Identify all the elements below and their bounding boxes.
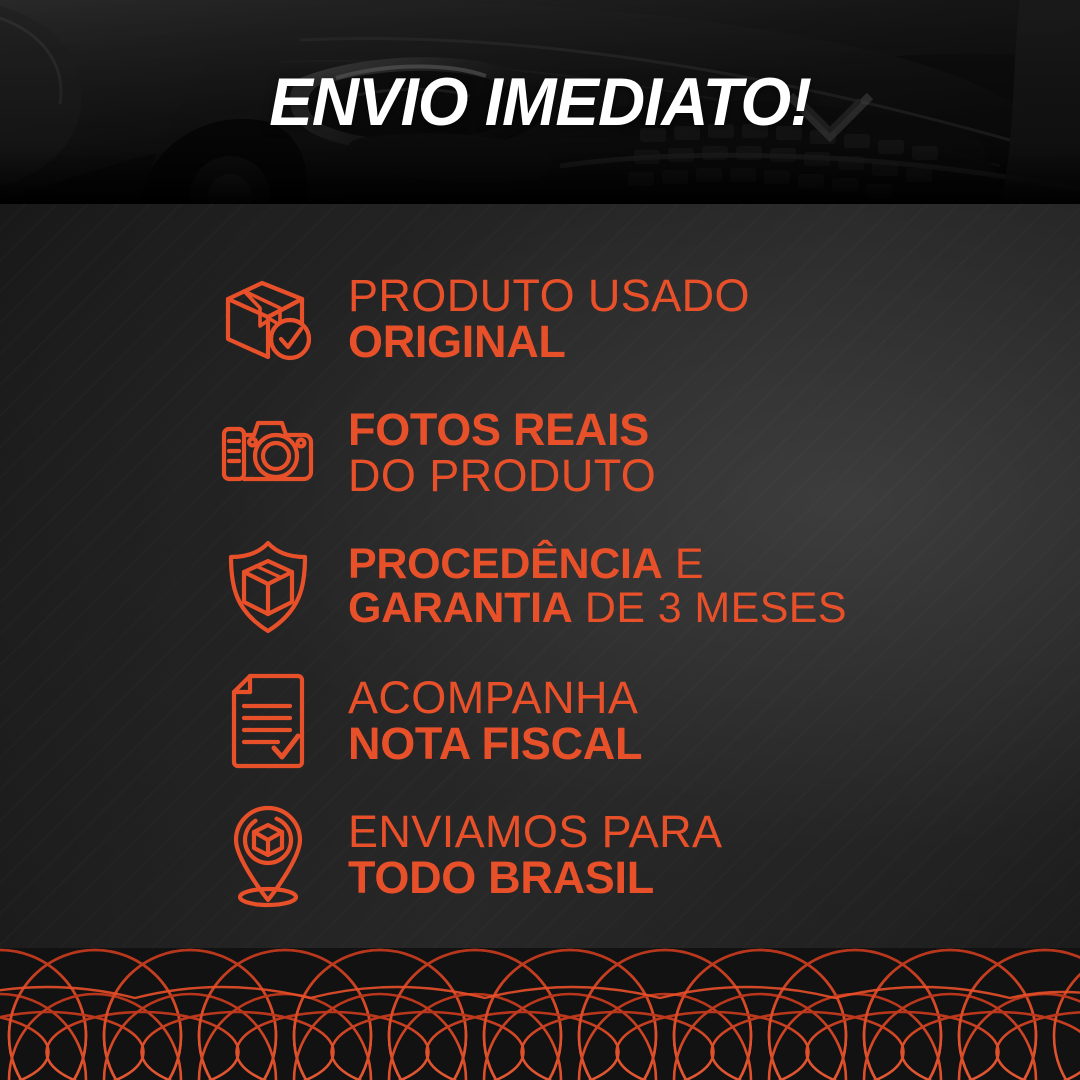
feature-line-2: GARANTIA DE 3 MESES [348, 587, 847, 631]
feature-line1-thin: ACOMPANHA [348, 672, 638, 723]
feature-text: PRODUTO USADO ORIGINAL [348, 273, 750, 365]
feature-line2-thin: DO PRODUTO [348, 450, 656, 501]
feature-line-2: ORIGINAL [348, 319, 750, 365]
feature-text: ACOMPANHA NOTA FISCAL [348, 675, 642, 767]
feature-item-todo-brasil: ENVIAMOS PARA TODO BRASIL [212, 788, 1080, 922]
feature-line-1: PROCEDÊNCIA E [348, 543, 847, 587]
feature-item-produto-usado-original: PRODUTO USADO ORIGINAL [212, 252, 1080, 386]
banner-header: ENVIO IMEDIATO! [0, 0, 1080, 204]
footer-pattern [0, 948, 1080, 1080]
feature-line1-bold: FOTOS REAIS [348, 404, 649, 455]
feature-line2-bold: GARANTIA [348, 584, 573, 632]
feature-line-1: PRODUTO USADO [348, 273, 750, 319]
feature-line2-bold: ORIGINAL [348, 316, 566, 367]
feature-item-procedencia-garantia: PROCEDÊNCIA E GARANTIA DE 3 MESES [212, 520, 1080, 654]
camera-icon [212, 401, 324, 505]
feature-line-2: DO PRODUTO [348, 453, 656, 499]
feature-line-1: FOTOS REAIS [348, 407, 656, 453]
feature-line1-bold: PROCEDÊNCIA [348, 540, 662, 588]
feature-line1-thin: E [662, 540, 703, 588]
header-title-text: ENVIO IMEDIATO! [269, 63, 811, 141]
feature-list: PRODUTO USADO ORIGINAL [212, 252, 1080, 922]
feature-text: FOTOS REAIS DO PRODUTO [348, 407, 656, 499]
promo-banner: ENVIO IMEDIATO! [0, 0, 1080, 1080]
invoice-check-icon [212, 669, 324, 773]
feature-item-fotos-reais: FOTOS REAIS DO PRODUTO [212, 386, 1080, 520]
box-check-icon [212, 267, 324, 371]
banner-body: PRODUTO USADO ORIGINAL [0, 204, 1080, 1080]
feature-item-nota-fiscal: ACOMPANHA NOTA FISCAL [212, 654, 1080, 788]
shield-box-icon [212, 535, 324, 639]
map-pin-box-icon [212, 803, 324, 907]
feature-line1-thin: PRODUTO USADO [348, 270, 750, 321]
feature-text: ENVIAMOS PARA TODO BRASIL [348, 809, 722, 901]
feature-line-1: ACOMPANHA [348, 675, 642, 721]
feature-line2-thin: DE 3 MESES [573, 584, 847, 632]
feature-line2-bold: NOTA FISCAL [348, 718, 642, 769]
feature-line-2: NOTA FISCAL [348, 721, 642, 767]
page-title: ENVIO IMEDIATO! [0, 0, 1080, 204]
feature-line1-thin: ENVIAMOS PARA [348, 806, 722, 857]
feature-line-1: ENVIAMOS PARA [348, 809, 722, 855]
feature-line-2: TODO BRASIL [348, 855, 722, 901]
feature-line2-bold: TODO BRASIL [348, 852, 654, 903]
feature-text: PROCEDÊNCIA E GARANTIA DE 3 MESES [348, 543, 847, 631]
